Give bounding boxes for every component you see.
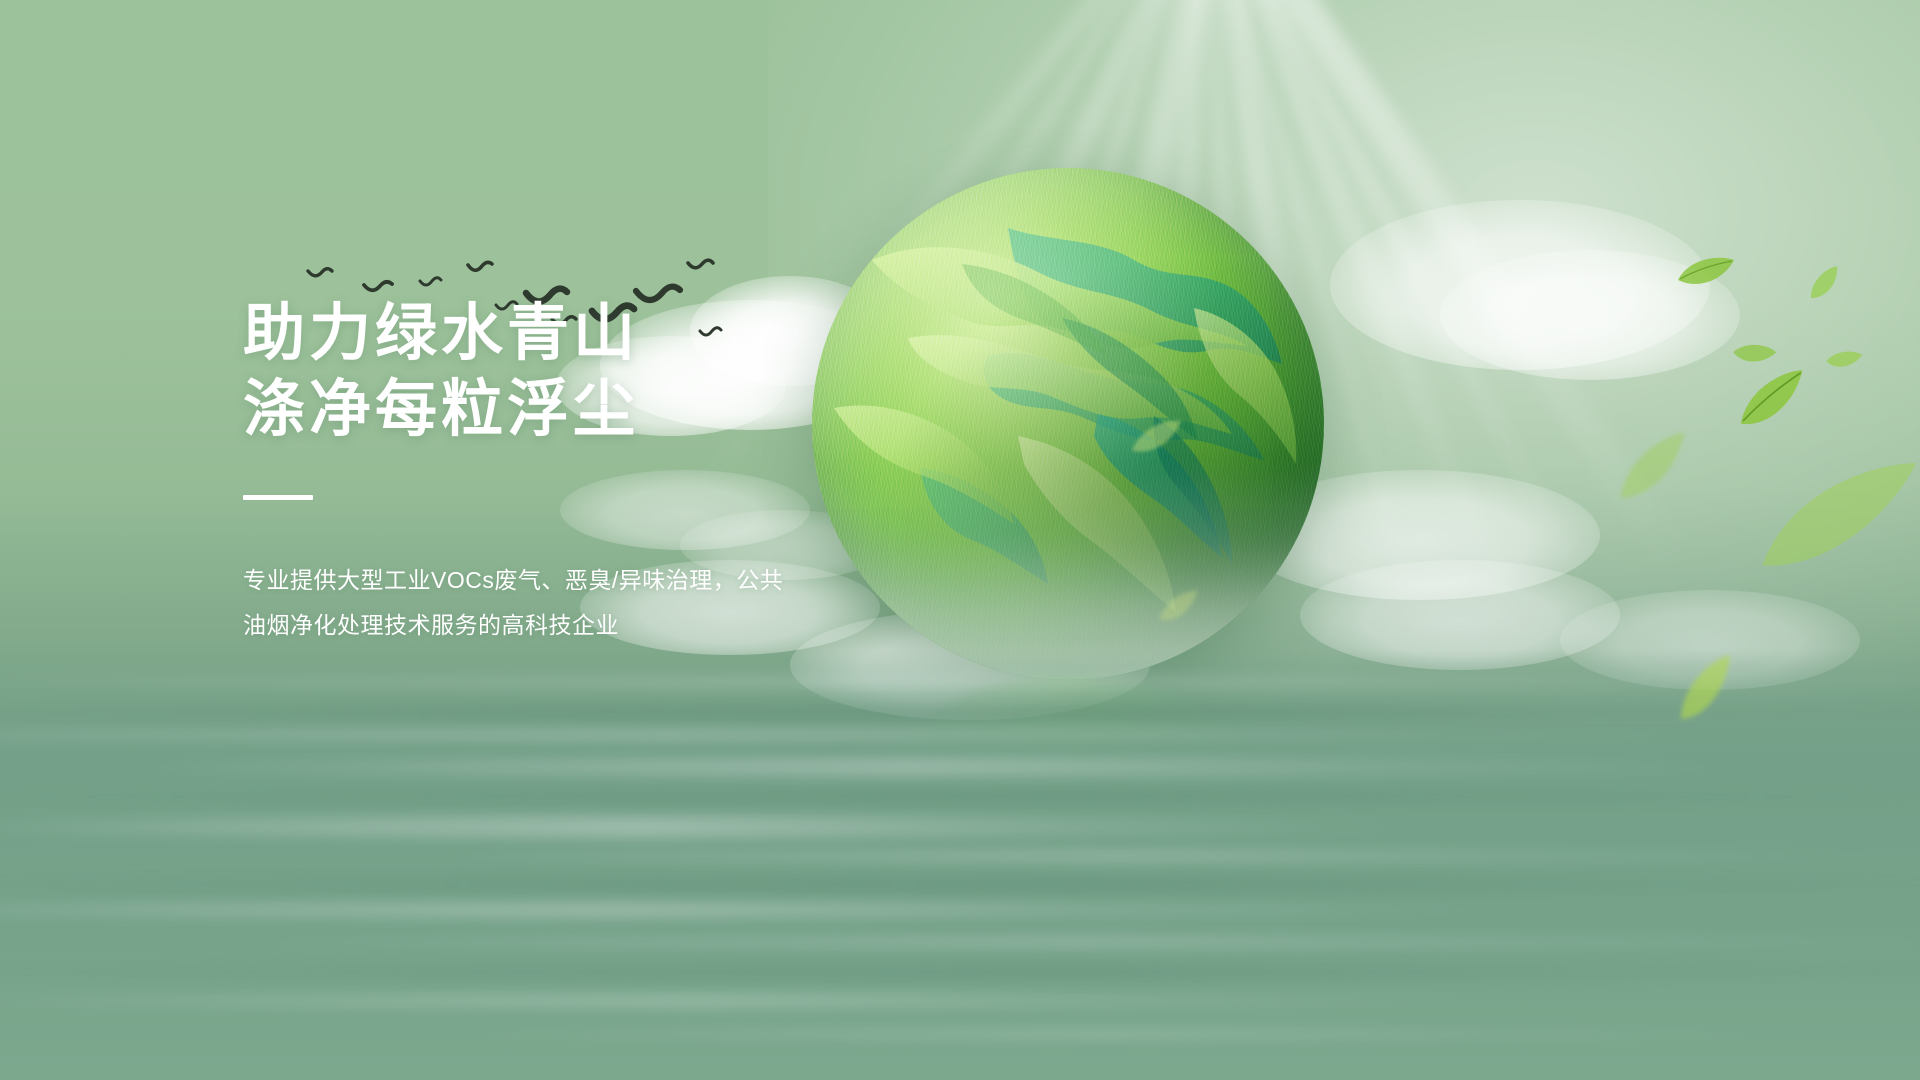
- falling-leaf-icon: [1601, 426, 1704, 510]
- page-title: 助力绿水青山 涤净每粒浮尘: [243, 296, 1003, 447]
- falling-leaf-icon: [1742, 452, 1920, 582]
- falling-leaf-icon: [1801, 262, 1849, 306]
- hero-subtitle: 专业提供大型工业VOCs废气、恶臭/异味治理，公共油烟净化处理技术服务的高科技企…: [243, 558, 803, 648]
- headline-line-2: 涤净每粒浮尘: [243, 372, 1003, 448]
- divider-rule: [243, 495, 313, 500]
- falling-leaf-icon: [1824, 345, 1864, 376]
- cloud-icon: [1330, 200, 1710, 370]
- water-surface-icon: [0, 650, 1920, 1080]
- falling-leaf-icon: [1726, 364, 1818, 436]
- headline-line-1: 助力绿水青山: [243, 296, 1003, 372]
- hero-banner: 助力绿水青山 涤净每粒浮尘 专业提供大型工业VOCs废气、恶臭/异味治理，公共油…: [0, 0, 1920, 1080]
- cloud-icon: [1440, 250, 1740, 380]
- falling-leaf-icon: [1676, 254, 1736, 290]
- hero-copy: 助力绿水青山 涤净每粒浮尘 专业提供大型工业VOCs废气、恶臭/异味治理，公共油…: [243, 296, 1003, 671]
- falling-leaf-icon: [1729, 333, 1778, 375]
